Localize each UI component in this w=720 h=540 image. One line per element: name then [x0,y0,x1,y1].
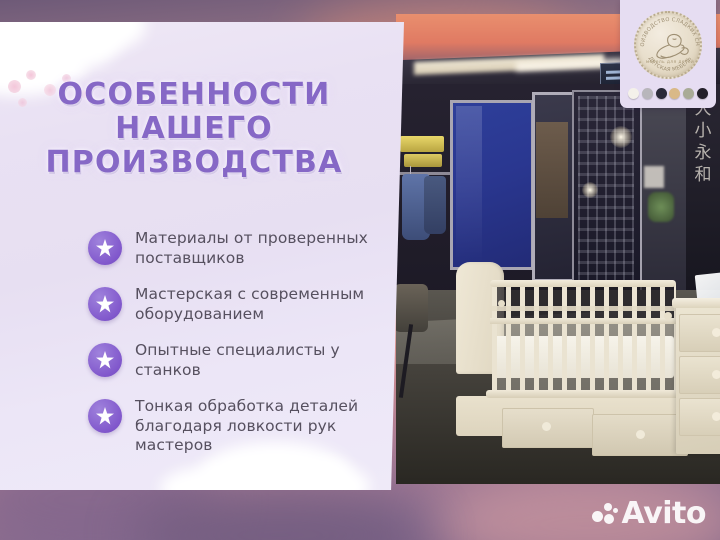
crib-bottom-rail [486,390,682,398]
sleeping-baby-icon [649,29,691,63]
dresser-drawer-knob [712,370,720,379]
crib-upper-bars [492,284,676,320]
list-item: Тонкая обработка деталей благодаря ловко… [88,396,388,456]
crib-dresser-top [672,298,720,308]
avito-dots-icon [592,502,618,526]
photo-lamp-glow [610,126,632,148]
title-line-3: ПРОИЗВОДСТВА [0,146,388,180]
brand-badge-panel: ПРОИЗВОДСТВО СЛАДКИХ СНОВ ДЕТСКАЯ МЕБЕЛЬ… [620,0,716,108]
photo-baby-crib [450,262,720,458]
photo-plant [648,192,674,222]
avito-watermark: Avito [592,500,706,528]
crib-drawer-knob [636,430,645,439]
title-line-1: ОСОБЕННОСТИ [0,78,388,112]
crib-drawer-knob [542,422,551,431]
list-item-label: Опытные специалисты у станков [135,340,388,380]
photo-window-highlight [644,166,664,188]
photo-right-window [640,90,686,290]
list-item-label: Мастерская с современным оборудованием [135,284,388,324]
color-swatch-beige[interactable] [669,88,680,99]
crib-mid-rail [490,318,676,324]
list-item-label: Материалы от проверенных поставщиков [135,228,388,268]
poster-canvas: 大小永和 [0,0,720,540]
content-card: ОСОБЕННОСТИ НАШЕГО ПРОИЗВОДСТВА Материал… [0,22,404,490]
star-icon [88,231,122,265]
dresser-drawer-knob [712,328,720,337]
photo-calligraphy-decor: 大小永和 [690,98,716,268]
photo-hanging-garment [424,176,446,234]
color-swatch-light-grey[interactable] [642,88,653,99]
color-swatch-row [628,88,708,99]
page-title: ОСОБЕННОСТИ НАШЕГО ПРОИЗВОДСТВА [0,78,388,180]
photo-glass-sheen [456,106,482,264]
photo-lamp-glow [582,182,598,198]
dresser-drawer-knob [712,412,720,421]
star-icon [88,399,122,433]
feature-list: Материалы от проверенных поставщиков Мас… [88,228,388,472]
crib-side-rail [492,306,678,311]
crib-knob [498,300,505,307]
list-item: Мастерская с современным оборудованием [88,284,388,324]
list-item-label: Тонкая обработка деталей благодаря ловко… [135,396,388,456]
avito-wordmark: Avito [622,500,706,528]
brand-logo: ПРОИЗВОДСТВО СЛАДКИХ СНОВ ДЕТСКАЯ МЕБЕЛЬ… [634,11,702,79]
crib-top-rail [490,280,676,287]
color-swatch-black[interactable] [697,88,708,99]
crib-lower-bars [492,324,676,392]
color-swatch-white[interactable] [628,88,639,99]
star-icon [88,343,122,377]
photo-wooden-door [536,122,568,218]
list-item: Материалы от проверенных поставщиков [88,228,388,268]
list-item: Опытные специалисты у станков [88,340,388,380]
crib-knob [664,312,672,320]
color-swatch-sage-grey[interactable] [683,88,694,99]
color-swatch-dark-navy[interactable] [656,88,667,99]
title-line-2: НАШЕГО [0,112,388,146]
photo-yellow-box [400,136,444,152]
star-icon [88,287,122,321]
logo-subtitle: мебель для детей [636,60,704,65]
